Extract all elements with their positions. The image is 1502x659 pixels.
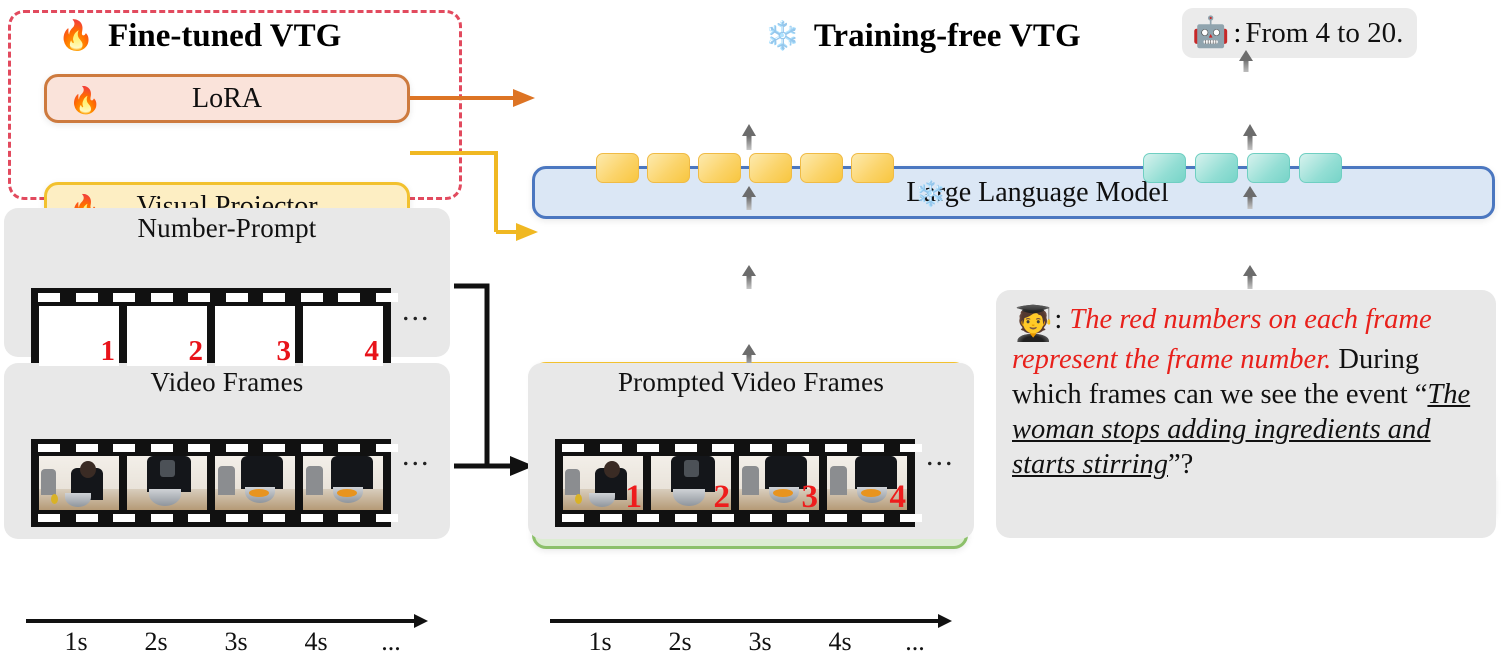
training-free-vtg-title: ❄️ Training-free VTG — [765, 18, 1081, 55]
assistant-answer-text: From 4 to 20. — [1245, 17, 1403, 50]
prompted-video-frame: 2 — [651, 456, 731, 510]
arrow-projector-to-visual-tokens — [741, 186, 757, 210]
timeline-tick: 2s — [640, 627, 720, 657]
text-token — [1299, 153, 1342, 183]
prompted-video-frame: 1 — [563, 456, 643, 510]
film-perforations-top — [31, 293, 405, 302]
prompted-frames-thumbnails: 1 2 3 — [563, 456, 907, 510]
video-frame-thumbnail — [303, 456, 383, 510]
timeline-tick: 3s — [720, 627, 800, 657]
frame-number: 1 — [626, 481, 643, 510]
visual-token-row — [596, 153, 894, 183]
timeline-tick: 4s — [800, 627, 880, 657]
prompted-video-frames-filmstrip: 1 2 3 — [555, 439, 915, 527]
visual-token — [647, 153, 690, 183]
text-token-row — [1143, 153, 1342, 183]
frame-number: 4 — [365, 337, 380, 366]
prompted-video-frames-timeline: 1s 2s 3s 4s ... — [550, 619, 960, 659]
video-frame-thumbnail — [215, 456, 295, 510]
visual-token — [800, 153, 843, 183]
video-frame-thumbnail — [39, 456, 119, 510]
number-prompt-frame: 3 — [215, 306, 295, 366]
video-frame-thumbnail — [127, 456, 207, 510]
thumbnail-image — [39, 456, 119, 510]
timeline-tick: ... — [880, 627, 950, 657]
user-question-suffix: ”? — [1168, 449, 1193, 480]
frame-number: 3 — [277, 337, 292, 366]
arrow-encoder-to-projector — [741, 265, 757, 289]
arrow-tokenizer-to-text-tokens — [1242, 186, 1258, 209]
number-prompt-frames: 1 2 3 4 — [39, 306, 383, 366]
user-colon: : — [1054, 304, 1062, 335]
arrow-question-to-tokenizer — [1242, 265, 1258, 289]
timeline-tick: 2s — [116, 627, 196, 657]
number-prompt-ellipsis: ... — [402, 296, 431, 326]
user-question-panel: 🧑‍🎓: The red numbers on each frame repre… — [996, 290, 1496, 538]
arrow-visual-tokens-to-llm — [741, 124, 757, 150]
thumbnail-image — [303, 456, 383, 510]
visual-token — [749, 153, 792, 183]
frame-number: 2 — [189, 337, 204, 366]
prompted-video-frames-panel: Prompted Video Frames — [528, 363, 974, 539]
fire-icon: 🔥 — [69, 88, 101, 114]
timeline-tick: 1s — [560, 627, 640, 657]
prompted-video-frames-title: Prompted Video Frames — [528, 363, 974, 398]
frame-number: 1 — [101, 337, 116, 366]
arrow-text-tokens-to-llm — [1242, 124, 1258, 150]
text-token — [1247, 153, 1290, 183]
fine-tuned-vtg-title-label: Fine-tuned VTG — [108, 18, 341, 55]
text-token — [1143, 153, 1186, 183]
frame-number: 4 — [890, 481, 907, 510]
prompted-video-frame: 3 — [739, 456, 819, 510]
video-frames-ellipsis: ... — [402, 441, 431, 471]
snowflake-icon: ❄️ — [765, 23, 800, 51]
video-frames-panel: Video Frames — [4, 363, 450, 539]
visual-token — [851, 153, 894, 183]
frame-number: 2 — [714, 481, 731, 510]
thumbnail-image — [127, 456, 207, 510]
assistant-answer: 🤖 : From 4 to 20. — [1182, 8, 1417, 58]
snowflake-icon: ❄️ — [915, 182, 946, 207]
film-perforations-top — [555, 444, 929, 452]
film-perforations-bottom — [555, 514, 929, 522]
number-prompt-frame: 1 — [39, 306, 119, 366]
fire-icon: 🔥 — [58, 22, 94, 51]
frame-number: 3 — [802, 481, 819, 510]
timeline-tick: 3s — [196, 627, 276, 657]
module-lora[interactable]: 🔥 LoRA — [44, 74, 410, 123]
number-prompt-title: Number-Prompt — [4, 208, 450, 244]
number-prompt-panel: Number-Prompt 1 2 3 4 — [4, 208, 450, 357]
robot-icon: 🤖 — [1192, 18, 1229, 48]
user-question-text: 🧑‍🎓: The red numbers on each frame repre… — [1012, 302, 1480, 482]
visual-token — [698, 153, 741, 183]
assistant-colon: : — [1233, 17, 1241, 50]
text-token — [1195, 153, 1238, 183]
timeline-tick: ... — [356, 627, 426, 657]
video-frames-filmstrip — [31, 439, 391, 527]
fine-tuned-vtg-title: 🔥 Fine-tuned VTG — [58, 18, 341, 55]
video-frames-timeline: 1s 2s 3s 4s ... — [26, 619, 436, 659]
video-frames-thumbnails — [39, 456, 383, 510]
user-avatar-icon: 🧑‍🎓 — [1012, 308, 1054, 342]
prompted-video-frame: 4 — [827, 456, 907, 510]
timeline-tick: 1s — [36, 627, 116, 657]
film-perforations-top — [31, 444, 405, 452]
timeline-tick: 4s — [276, 627, 356, 657]
arrow-merge-to-prompted-frames — [452, 282, 540, 482]
film-perforations-bottom — [31, 514, 405, 522]
number-prompt-frame: 4 — [303, 306, 383, 366]
arrow-llm-to-answer — [1238, 50, 1254, 72]
thumbnail-image — [215, 456, 295, 510]
training-free-vtg-title-label: Training-free VTG — [814, 18, 1081, 55]
video-frames-title: Video Frames — [4, 363, 450, 398]
number-prompt-frame: 2 — [127, 306, 207, 366]
prompted-video-frames-ellipsis: ... — [926, 441, 955, 471]
arrow-lora-to-llm — [408, 84, 538, 116]
visual-token — [596, 153, 639, 183]
